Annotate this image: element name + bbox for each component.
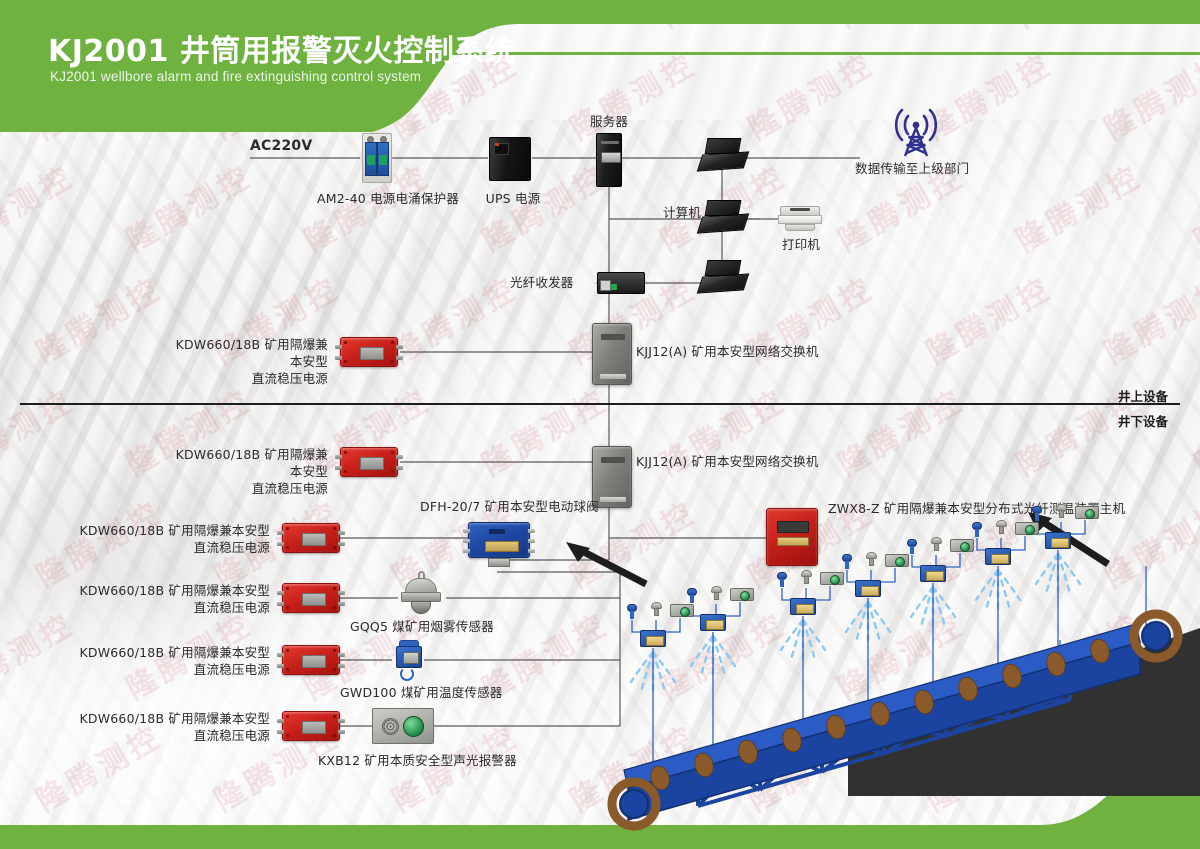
sprinkler-alarm-icon [950,539,974,552]
sprinkler-smoke-detector-icon [1055,504,1068,519]
sprinkler-control-box [790,598,816,615]
power-supply-surface-device [340,337,398,367]
ball-valve-device [468,522,530,558]
ball-valve-label: DFH-20/7 矿用本安型电动球阀 [420,498,599,515]
page-subtitle: KJ2001 wellbore alarm and fire extinguis… [50,69,421,84]
sprinkler-control-box [700,614,726,631]
sprinkler-control-box [1045,532,1071,549]
sprinkler-smoke-detector-icon [930,537,943,552]
sprinkler-smoke-detector-icon [865,552,878,567]
power-supply-row-1-label: KDW660/18B 矿用隔爆兼本安型 直流稳压电源 [78,522,270,556]
uplink-label: 数据传输至上级部门 [855,160,969,177]
sprinkler-smoke-detector-icon [710,586,723,601]
media-converter-device [597,272,645,294]
server-label: 服务器 [578,113,640,130]
sprinkler-blue-detector-icon [686,588,698,603]
spd-label: AM2-40 电源电涌保护器 [308,190,468,207]
sprinkler-alarm-icon [885,554,909,567]
divider-label-above: 井上设备 [1118,386,1168,405]
sprinkler-blue-detector-icon [1031,506,1043,521]
sprinkler-alarm-icon [820,572,844,585]
divider-label-below: 井下设备 [1118,411,1168,430]
sprinkler-blue-detector-icon [971,522,983,537]
temp-sensor-label: GWD100 煤矿用温度传感器 [340,684,503,701]
sprinkler-node [855,580,881,597]
sprinkler-smoke-detector-icon [650,602,663,617]
sprinkler-blue-detector-icon [841,554,853,569]
antenna-tower-icon [886,100,946,163]
power-supply-surface-label: KDW660/18B 矿用隔爆兼本安型 直流稳压电源 [168,336,328,387]
power-supply-row-4-device [282,711,340,741]
workstation-2 [700,200,746,234]
callout-arrow-left [560,538,650,588]
switch-underground-label: KJJ12(A) 矿用本安型网络交换机 [636,453,819,470]
computer-label: 计算机 [663,204,701,221]
sprinkler-node [920,565,946,582]
ac-input-label: AC220V [250,138,312,155]
sprinkler-blue-detector-icon [906,539,918,554]
sprinkler-control-box [855,580,881,597]
server-device [596,133,622,187]
power-supply-row-1-device [282,523,340,553]
sprinkler-blue-detector-icon [626,604,638,619]
fiber-temp-host-device [766,508,818,566]
sprinkler-node [700,614,726,631]
workstation-1 [700,138,746,172]
sprinkler-alarm-icon [670,604,694,617]
ups-device [489,137,531,181]
spd-device [362,133,392,183]
alarm-label: KXB12 矿用本质安全型声光报警器 [318,752,517,769]
ups-label: UPS 电源 [478,190,548,207]
page-title: KJ2001 井筒用报警灭火控制系统 [48,26,515,70]
smoke-sensor-label: GQQ5 煤矿用烟雾传感器 [350,618,494,635]
sprinkler-smoke-detector-icon [995,520,1008,535]
switch-surface-label: KJJ12(A) 矿用本安型网络交换机 [636,343,819,360]
sprinkler-node [1045,532,1071,549]
sprinkler-control-box [640,630,666,647]
power-supply-row-2-device [282,583,340,613]
power-supply-row-0-device [340,447,398,477]
sprinkler-alarm-icon [730,588,754,601]
sprinkler-alarm-icon [1015,522,1039,535]
power-supply-row-0-label: KDW660/18B 矿用隔爆兼本安型 直流稳压电源 [168,446,328,497]
diagram-canvas: 隆腾测控隆腾测控隆腾测控隆腾测控隆腾测控隆腾测控隆腾测控隆腾测控隆腾测控隆腾测控… [0,0,1200,849]
printer-label: 打印机 [770,236,832,253]
sprinkler-node [640,630,666,647]
media-converter-label: 光纤收发器 [510,274,574,291]
sprinkler-node [790,598,816,615]
printer-device [778,206,822,234]
sprinkler-control-box [985,548,1011,565]
sprinkler-alarm-icon [1075,506,1099,519]
workstation-3 [700,260,746,294]
sprinkler-blue-detector-icon [776,572,788,587]
alarm-device [372,708,434,744]
sprinkler-control-box [920,565,946,582]
smoke-sensor-device [398,576,444,616]
power-supply-row-2-label: KDW660/18B 矿用隔爆兼本安型 直流稳压电源 [78,582,270,616]
sprinkler-smoke-detector-icon [800,570,813,585]
switch-surface-device [592,323,632,385]
temp-sensor-device [392,640,426,682]
sprinkler-node [985,548,1011,565]
power-supply-row-3-device [282,645,340,675]
power-supply-row-3-label: KDW660/18B 矿用隔爆兼本安型 直流稳压电源 [78,644,270,678]
power-supply-row-4-label: KDW660/18B 矿用隔爆兼本安型 直流稳压电源 [78,710,270,744]
